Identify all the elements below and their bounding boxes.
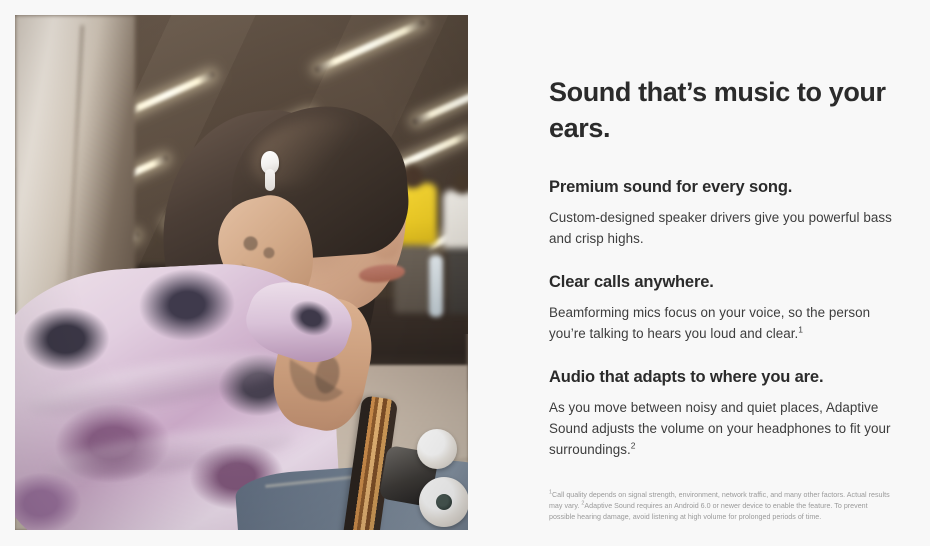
legal-footnotes: 1Call quality depends on signal strength… <box>549 490 894 524</box>
background-skateboard <box>429 255 443 317</box>
feature-block-premium-sound: Premium sound for every song. Custom-des… <box>549 176 901 249</box>
feature-body-text: Custom-designed speaker drivers give you… <box>549 210 892 246</box>
feature-block-adaptive-sound: Audio that adapts to where you are. As y… <box>549 366 901 460</box>
footnote-marker: 2 <box>631 441 636 451</box>
photo-canvas <box>15 15 468 530</box>
feature-copy-column: Sound that’s music to your ears. Premium… <box>549 74 901 460</box>
feature-title: Premium sound for every song. <box>549 176 901 198</box>
feature-title: Clear calls anywhere. <box>549 271 901 293</box>
skateboard-wheel <box>419 477 468 527</box>
feature-body-text: Beamforming mics focus on your voice, so… <box>549 305 870 341</box>
product-feature-page: Sound that’s music to your ears. Premium… <box>0 0 930 546</box>
feature-body: As you move between noisy and quiet plac… <box>549 397 901 460</box>
feature-title: Audio that adapts to where you are. <box>549 366 901 388</box>
feature-body: Beamforming mics focus on your voice, so… <box>549 302 901 344</box>
skateboard-wheel <box>417 429 457 469</box>
footnote-text-two: Adaptive Sound requires an Android 6.0 o… <box>549 502 868 521</box>
page-headline: Sound that’s music to your ears. <box>549 74 901 146</box>
background-person-white-shirt <box>443 190 468 248</box>
background-person-head <box>453 173 468 194</box>
feature-body-text: As you move between noisy and quiet plac… <box>549 400 890 457</box>
lifestyle-photo <box>15 15 468 530</box>
background-person-legs <box>447 244 468 314</box>
feature-body: Custom-designed speaker drivers give you… <box>549 207 901 249</box>
footnote-marker: 1 <box>798 325 803 335</box>
feature-block-clear-calls: Clear calls anywhere. Beamforming mics f… <box>549 271 901 344</box>
